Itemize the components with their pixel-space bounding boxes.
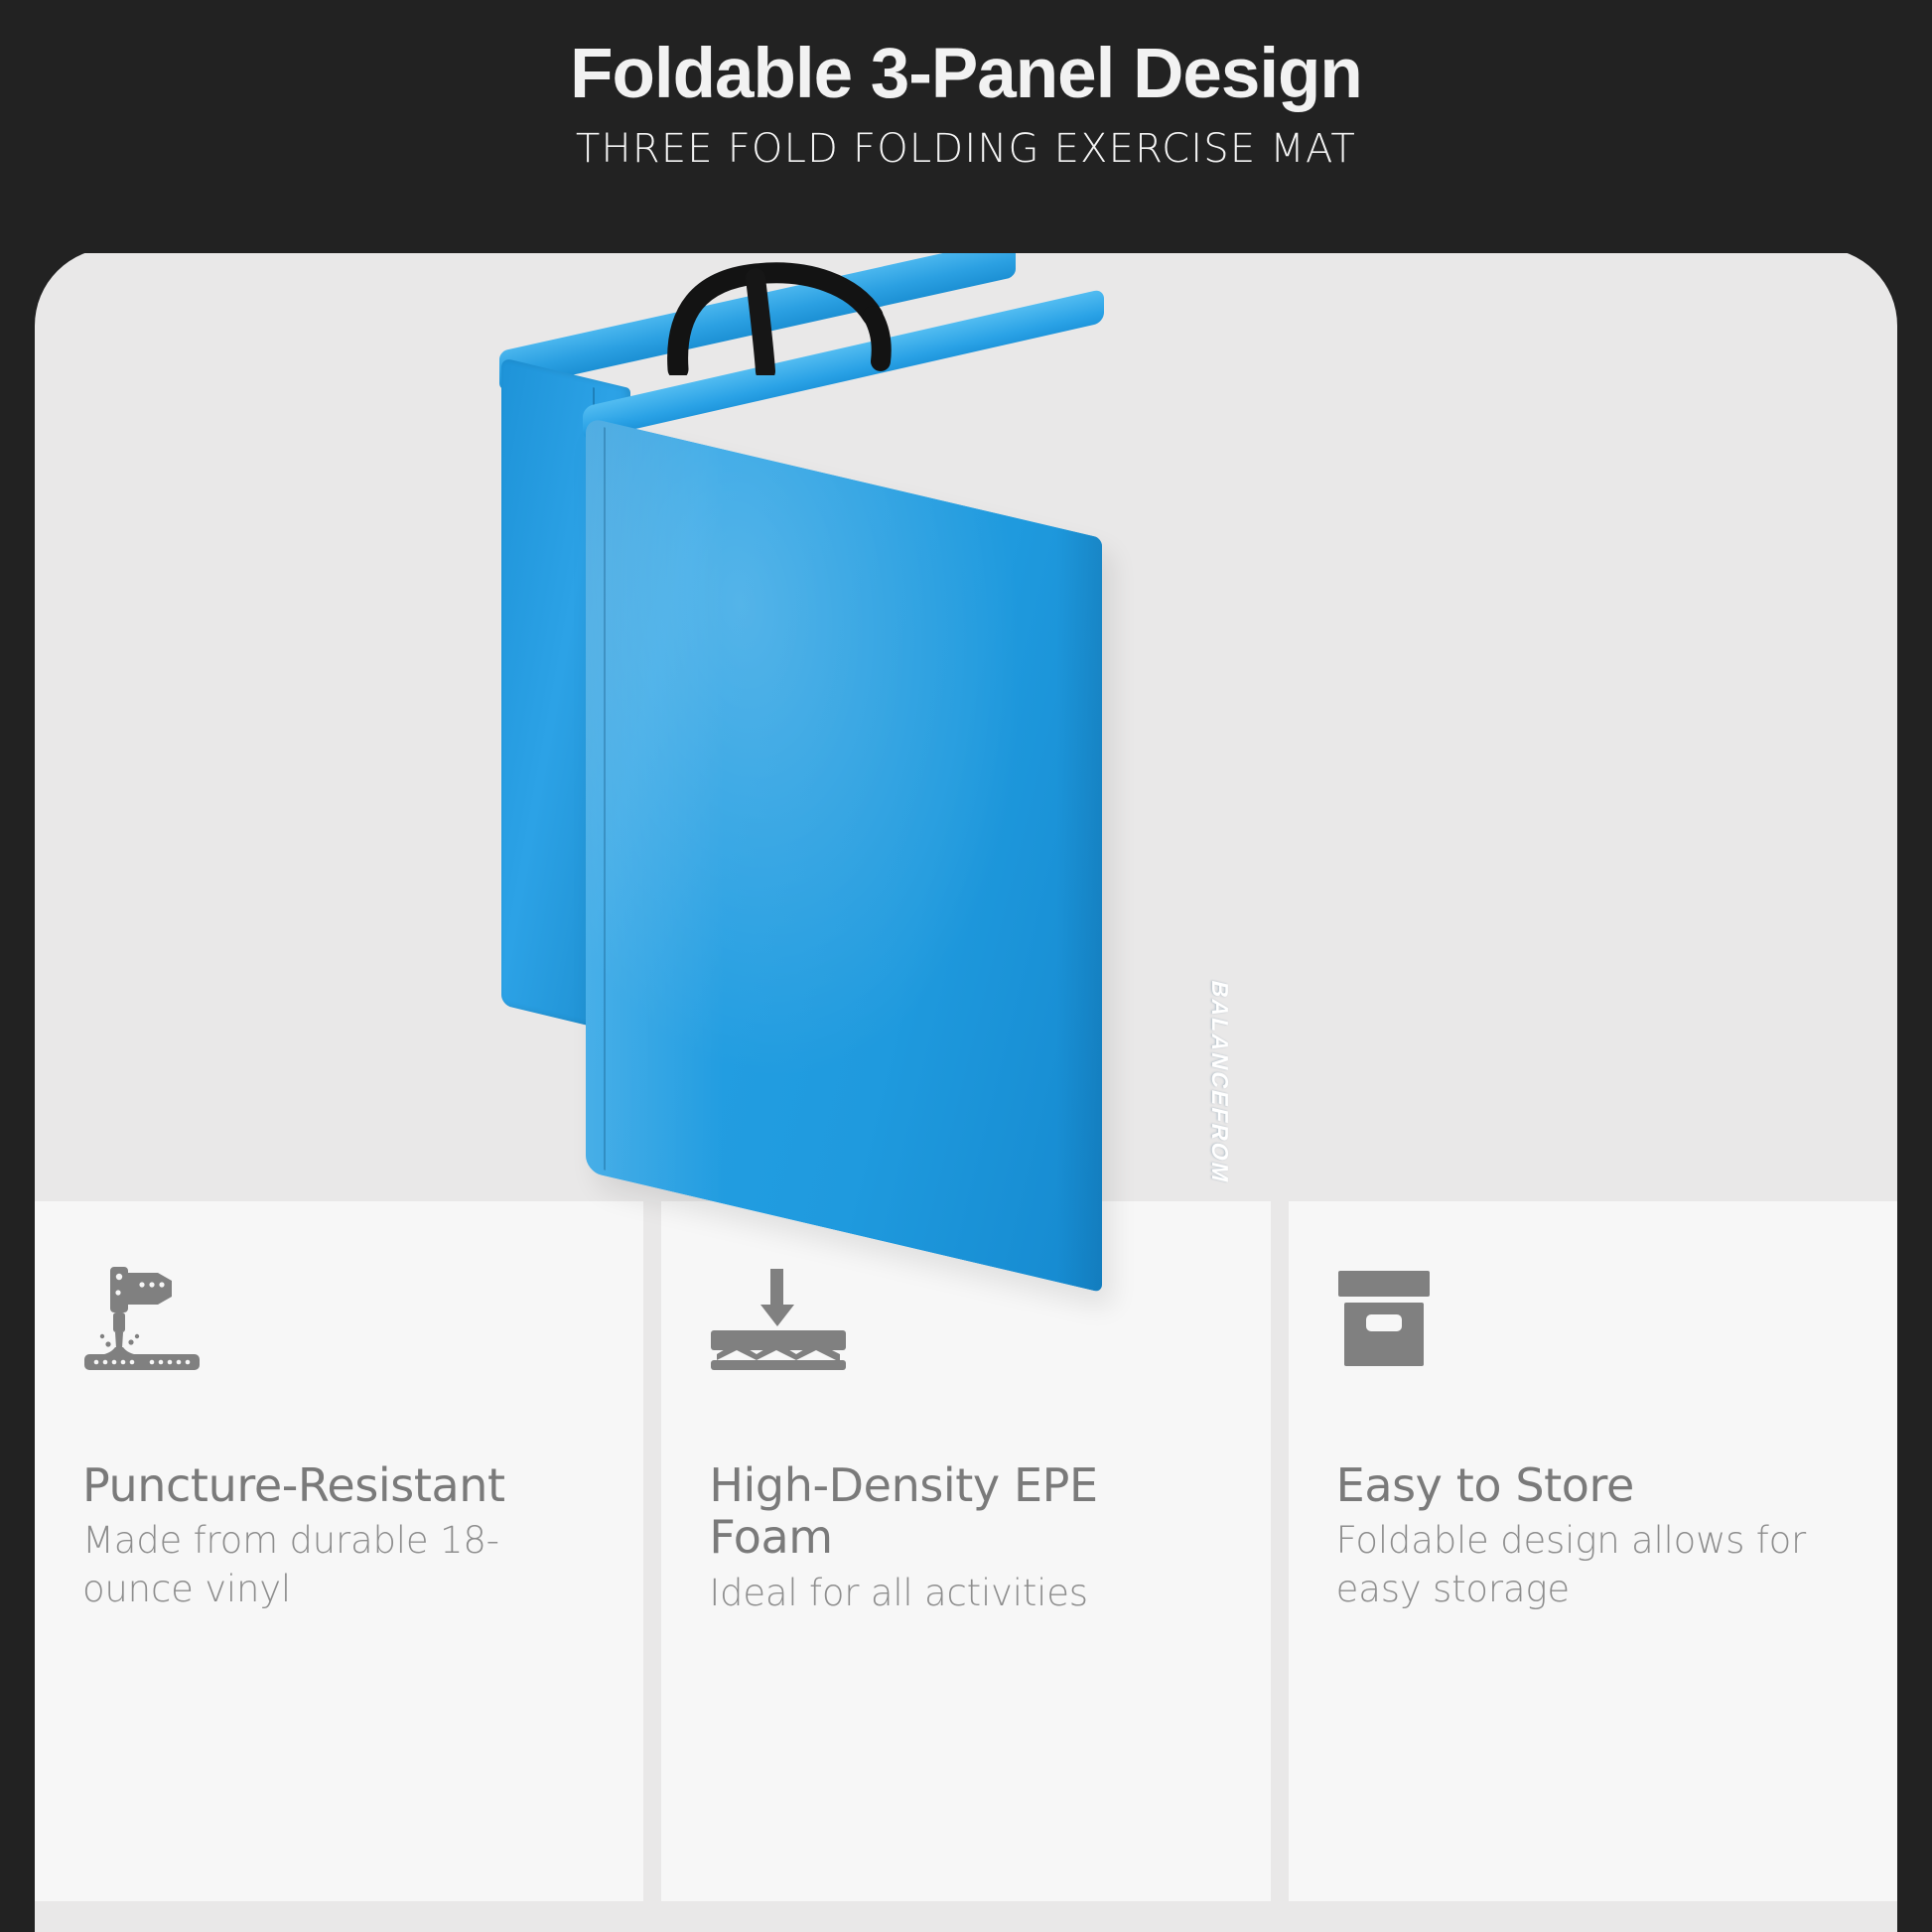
feature-card-description: Ideal for all activities (709, 1570, 1222, 1617)
feature-card-title: Puncture-Resistant (82, 1459, 596, 1511)
feature-card-high-density-epe-foam: High-Density EPE Foam Ideal for all acti… (661, 1201, 1270, 1901)
feature-card-easy-to-store: Easy to Store Foldable design allows for… (1289, 1201, 1897, 1901)
product-image: BALANCEFROM (35, 248, 1897, 1261)
feature-card-title: Easy to Store (1336, 1459, 1850, 1511)
mat-fold-crease (604, 427, 606, 1170)
brand-wordmark: BALANCEFROM (1206, 978, 1233, 1187)
carry-handle-icon (660, 258, 903, 375)
feature-card-title: High-Density EPE Foam (709, 1459, 1222, 1564)
page-title: Foldable 3-Panel Design (0, 0, 1932, 115)
storage-box-icon (1336, 1263, 1850, 1374)
product-infographic: Foldable 3-Panel Design THREE FOLD FOLDI… (0, 0, 1932, 1932)
feature-card-puncture-resistant: Puncture-Resistant Made from durable 18-… (35, 1201, 643, 1901)
mat-highlight (586, 417, 725, 1204)
feature-card-description: Made from durable 18-ounce vinyl (82, 1517, 596, 1612)
header-banner: Foldable 3-Panel Design THREE FOLD FOLDI… (0, 0, 1932, 253)
content-panel: BALANCEFROM (35, 248, 1897, 1932)
feature-card-list: Puncture-Resistant Made from durable 18-… (35, 1201, 1897, 1932)
feature-card-description: Foldable design allows for easy storage (1336, 1517, 1850, 1612)
mat-right-edge-shading (1056, 527, 1102, 1293)
puncture-drill-icon (82, 1263, 596, 1374)
mat-front-panel (586, 417, 1102, 1293)
page-subtitle: THREE FOLD FOLDING EXERCISE MAT (0, 115, 1932, 173)
foam-compression-icon (709, 1263, 1222, 1374)
carry-handle (660, 258, 903, 375)
